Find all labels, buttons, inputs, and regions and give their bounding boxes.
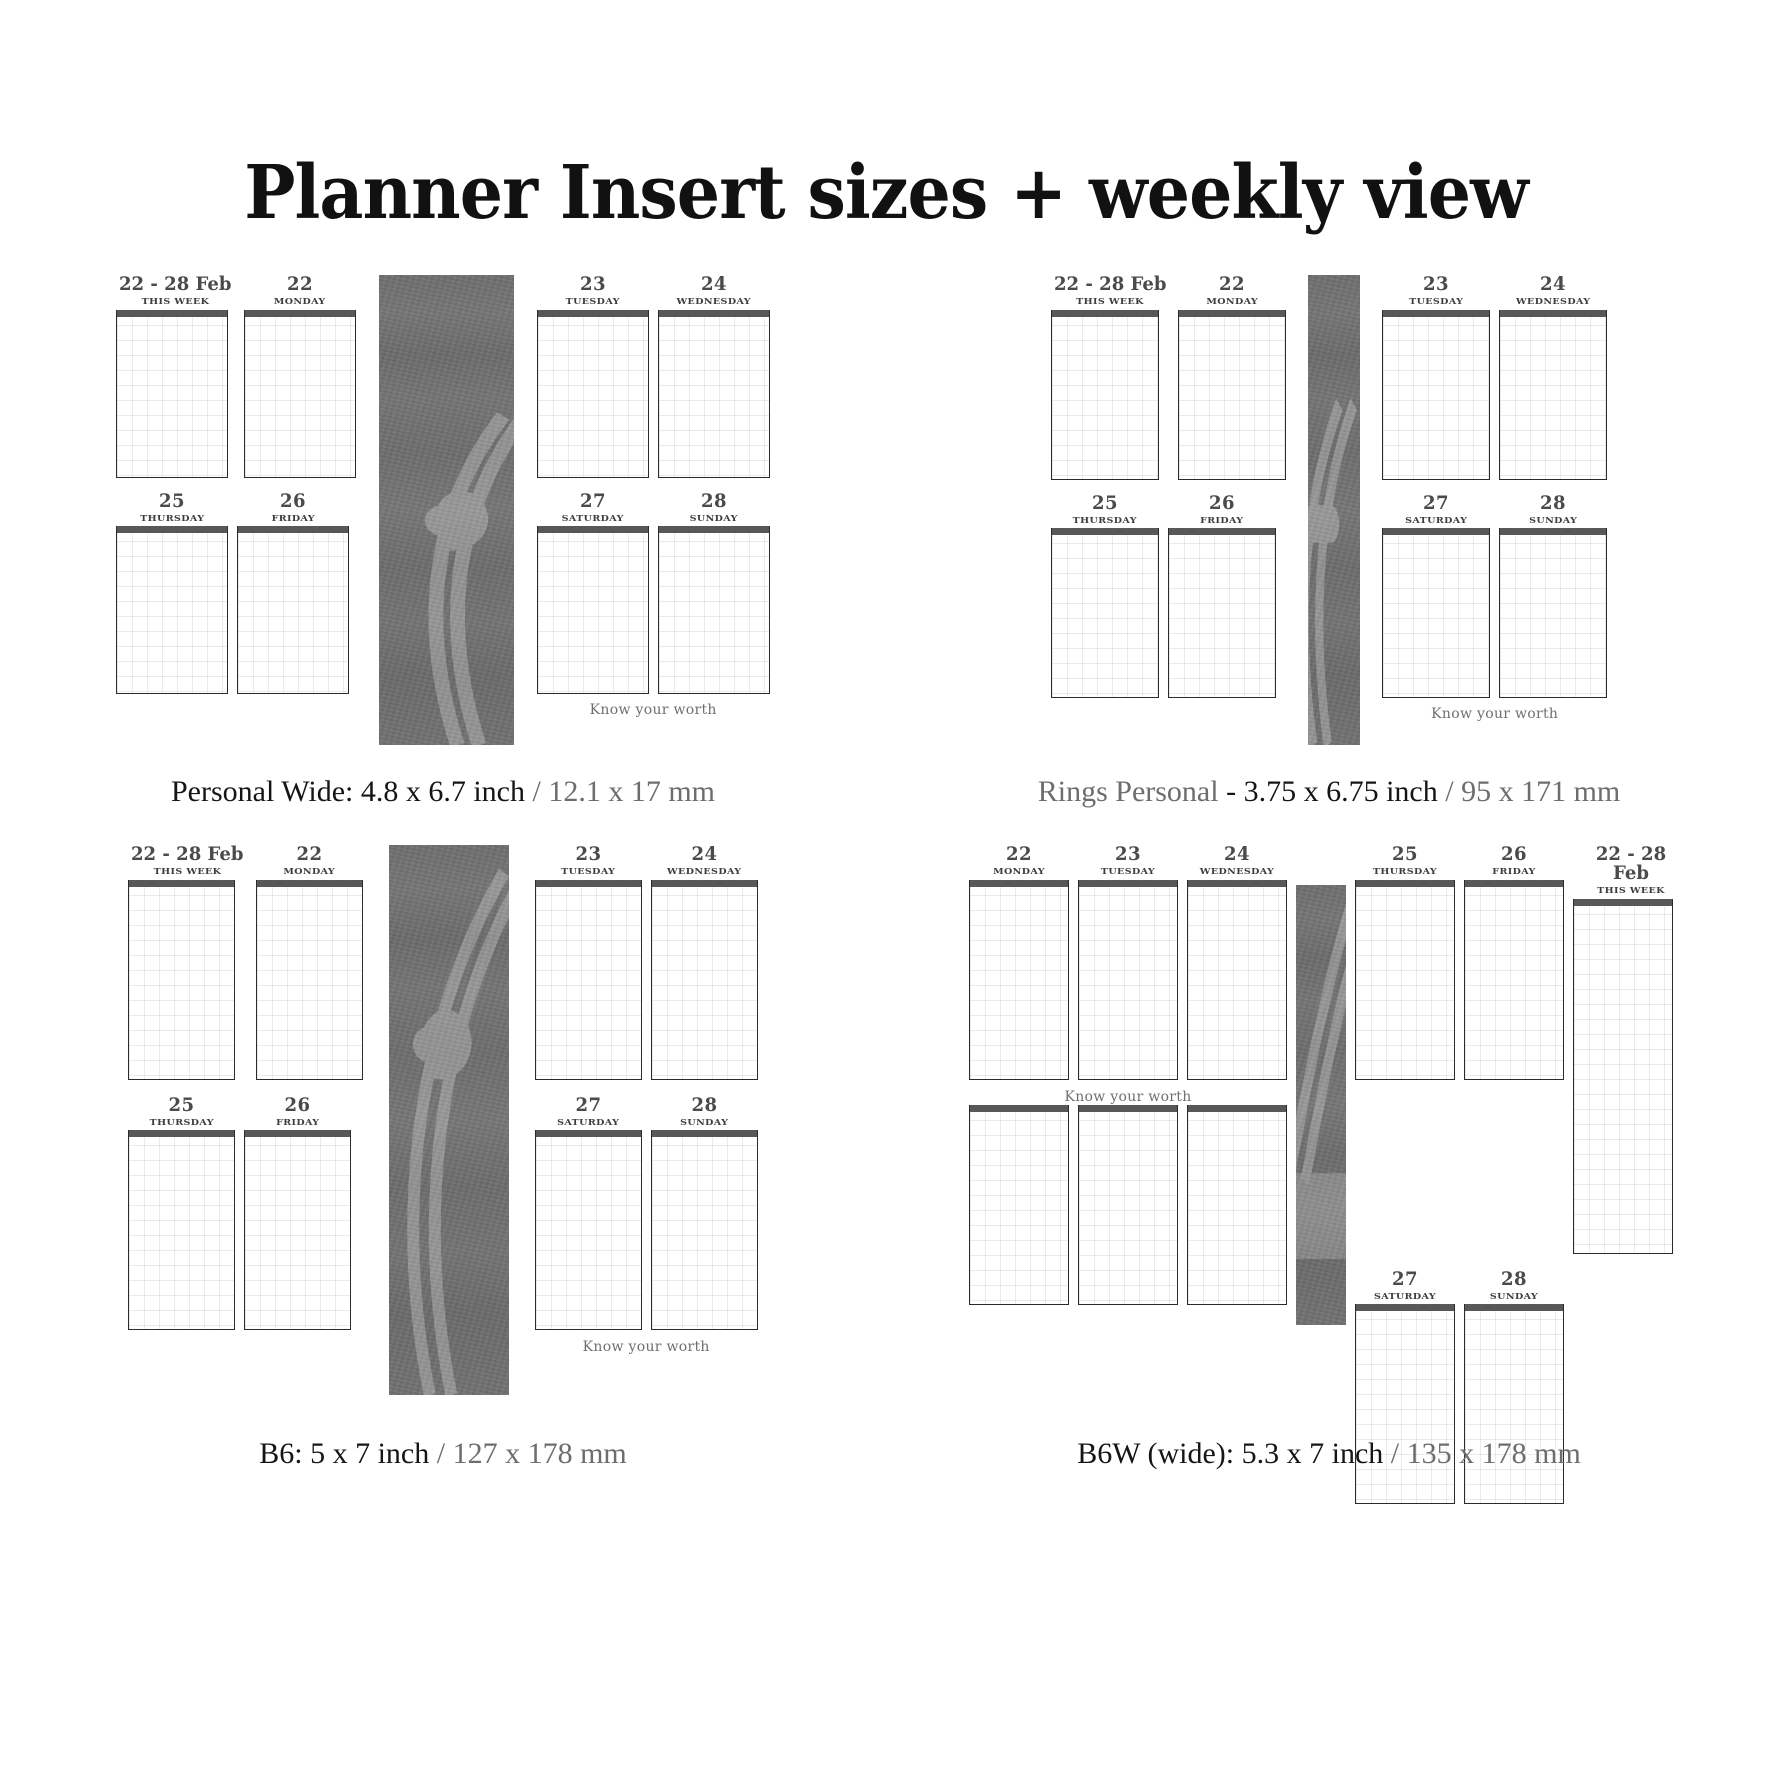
note-sheet[interactable] bbox=[535, 1130, 642, 1330]
date-number: 27 bbox=[537, 1096, 639, 1115]
day-label: THURSDAY bbox=[1051, 516, 1159, 525]
day-head: 26 FRIDAY bbox=[1464, 845, 1564, 877]
week-row-top: 23 TUESDAY 24 WEDNESDAY bbox=[535, 845, 758, 1080]
daybox-saturday[interactable]: 27 SATURDAY bbox=[535, 1096, 642, 1331]
date-number: 26 bbox=[247, 1096, 349, 1115]
planner-spine bbox=[1308, 275, 1360, 745]
note-sheet[interactable] bbox=[244, 1130, 351, 1330]
week-row-top: 22 - 28 Feb THIS WEEK 22 MONDAY bbox=[128, 845, 362, 1080]
day-label: SATURDAY bbox=[537, 514, 649, 523]
spread-right-page: 23 TUESDAY 24 WEDNESDAY bbox=[537, 275, 770, 718]
caption-size-inch: 5 x 7 inch bbox=[303, 1437, 430, 1470]
day-label: MONDAY bbox=[969, 867, 1069, 876]
spine-decoration-icon bbox=[389, 845, 509, 1395]
day-head: 22 - 28 Feb THIS WEEK bbox=[128, 845, 246, 877]
spread-b6w: 22 MONDAY 23 TUESDAY 2 bbox=[969, 845, 1689, 1504]
week-row-bottom: 25 THURSDAY 26 FRIDAY bbox=[128, 1096, 362, 1331]
daybox-thursday[interactable]: 25 THURSDAY bbox=[1355, 845, 1455, 1254]
date-number: 23 bbox=[537, 845, 639, 864]
day-label: THIS WEEK bbox=[116, 297, 234, 306]
week-row-bottom: 27 SATURDAY 28 SUNDAY bbox=[1382, 494, 1607, 699]
daybox-this-week[interactable]: 22 - 28 Feb THIS WEEK bbox=[1573, 845, 1689, 1254]
caption-size-mm: / 135 x 178 mm bbox=[1383, 1437, 1581, 1470]
day-label: SATURDAY bbox=[535, 1118, 642, 1127]
planner-panel-rings-personal: 22 - 28 Feb THIS WEEK 22 MONDAY bbox=[886, 275, 1772, 845]
caption-size-name: Rings Personal bbox=[1038, 775, 1219, 808]
caption-size-inch: 4.8 x 6.7 inch bbox=[353, 775, 525, 808]
day-label: MONDAY bbox=[1178, 297, 1286, 306]
week-row-bottom: 27 SATURDAY 28 SUNDAY bbox=[535, 1096, 758, 1331]
day-label: FRIDAY bbox=[244, 1118, 351, 1127]
daybox-tuesday[interactable]: 23 TUESDAY bbox=[1078, 845, 1178, 1080]
note-sheet[interactable] bbox=[969, 1105, 1069, 1305]
date-number: 24 bbox=[661, 275, 767, 294]
planner-spine bbox=[389, 845, 509, 1395]
date-number: 27 bbox=[1358, 1270, 1453, 1289]
day-head: 22 - 28 Feb THIS WEEK bbox=[1573, 845, 1689, 896]
caption-size-mm: / 127 x 178 mm bbox=[429, 1437, 627, 1470]
day-label: SUNDAY bbox=[1499, 516, 1607, 525]
date-number: 28 bbox=[1502, 494, 1605, 513]
spread-right-page: 23 TUESDAY 24 WEDNESDAY bbox=[535, 845, 758, 1355]
date-number: 22 - 28 Feb bbox=[119, 275, 232, 294]
note-sheet[interactable] bbox=[1051, 310, 1159, 480]
note-sheet[interactable] bbox=[1178, 310, 1286, 480]
note-sheet[interactable] bbox=[244, 310, 356, 478]
note-sheet[interactable] bbox=[1078, 880, 1178, 1080]
day-label: TUESDAY bbox=[1078, 867, 1178, 876]
day-head: 27 SATURDAY bbox=[1382, 494, 1490, 526]
note-sheet[interactable] bbox=[651, 880, 758, 1080]
day-label: THURSDAY bbox=[116, 514, 228, 523]
daybox-this-week[interactable]: 22 - 28 Feb THIS WEEK bbox=[1051, 275, 1169, 480]
day-head: 24 WEDNESDAY bbox=[651, 845, 758, 877]
note-sheet[interactable] bbox=[1355, 880, 1455, 1080]
date-number: 25 bbox=[119, 492, 225, 511]
day-head: 22 - 28 Feb THIS WEEK bbox=[1051, 275, 1169, 307]
daybox-saturday[interactable]: 27 SATURDAY bbox=[1382, 494, 1490, 699]
day-head: 27 SATURDAY bbox=[537, 492, 649, 524]
day-label: WEDNESDAY bbox=[651, 867, 758, 876]
caption-b6: B6: 5 x 7 inch / 127 x 178 mm bbox=[0, 1437, 886, 1471]
note-sheet[interactable] bbox=[1187, 1105, 1287, 1305]
day-label: THURSDAY bbox=[1355, 867, 1455, 876]
day-label: SUNDAY bbox=[658, 514, 770, 523]
spread-left-page: 22 MONDAY 23 TUESDAY 2 bbox=[969, 845, 1287, 1305]
note-sheet[interactable] bbox=[537, 310, 649, 478]
planner-spine bbox=[379, 275, 514, 745]
week-row-top: 23 TUESDAY 24 WEDNESDAY bbox=[1382, 275, 1607, 480]
tagline: Know your worth bbox=[969, 1089, 1287, 1105]
caption-size-mm: / 95 x 171 mm bbox=[1438, 775, 1621, 808]
day-label: FRIDAY bbox=[1168, 516, 1276, 525]
daybox-sunday[interactable]: 28 SUNDAY bbox=[658, 492, 770, 695]
daybox-friday[interactable]: 26 FRIDAY bbox=[1464, 845, 1564, 1254]
day-head: 27 SATURDAY bbox=[1355, 1270, 1455, 1302]
note-sheet[interactable] bbox=[1382, 528, 1490, 698]
day-head: 25 THURSDAY bbox=[1355, 845, 1455, 877]
daybox-sunday[interactable]: 28 SUNDAY bbox=[1499, 494, 1607, 699]
day-head: 24 WEDNESDAY bbox=[1499, 275, 1607, 307]
date-number: 23 bbox=[1081, 845, 1176, 864]
note-sheet[interactable] bbox=[1168, 528, 1276, 698]
daybox-tuesday[interactable]: 23 TUESDAY bbox=[535, 845, 642, 1080]
daybox-wednesday[interactable]: 24 WEDNESDAY bbox=[1499, 275, 1607, 480]
week-row-top: 23 TUESDAY 24 WEDNESDAY bbox=[537, 275, 770, 478]
day-label: THIS WEEK bbox=[128, 867, 246, 876]
date-number: 26 bbox=[1170, 494, 1273, 513]
day-head: 23 TUESDAY bbox=[537, 275, 649, 307]
note-sheet[interactable] bbox=[1382, 310, 1490, 480]
caption-size-name: B6: bbox=[259, 1437, 302, 1470]
day-label: FRIDAY bbox=[1464, 867, 1564, 876]
day-label: TUESDAY bbox=[535, 867, 642, 876]
tagline: Know your worth bbox=[1382, 706, 1607, 722]
day-label: THIS WEEK bbox=[1573, 886, 1689, 895]
note-sheet[interactable] bbox=[537, 526, 649, 694]
spine-decoration-icon bbox=[1308, 275, 1360, 745]
note-sheet[interactable] bbox=[969, 880, 1069, 1080]
day-head: 28 SUNDAY bbox=[658, 492, 770, 524]
day-label: TUESDAY bbox=[1382, 297, 1490, 306]
daybox-blank-2[interactable] bbox=[1078, 1105, 1178, 1305]
spine-decoration-icon bbox=[379, 275, 514, 745]
date-number: 24 bbox=[1502, 275, 1605, 294]
day-head: 25 THURSDAY bbox=[128, 1096, 235, 1128]
day-head: 28 SUNDAY bbox=[1464, 1270, 1564, 1302]
planner-spine bbox=[1296, 885, 1346, 1325]
spread-right-page: 25 THURSDAY 26 FRIDAY bbox=[1355, 845, 1689, 1504]
caption-size-name: B6W (wide): bbox=[1077, 1437, 1234, 1470]
note-sheet[interactable] bbox=[1499, 310, 1607, 480]
daybox-wednesday[interactable]: 24 WEDNESDAY bbox=[1187, 845, 1287, 1080]
note-sheet[interactable] bbox=[651, 1130, 758, 1330]
day-label: WEDNESDAY bbox=[658, 297, 770, 306]
note-sheet[interactable] bbox=[1187, 880, 1287, 1080]
tagline: Know your worth bbox=[535, 1339, 758, 1355]
day-head: 26 FRIDAY bbox=[237, 492, 349, 524]
daybox-saturday[interactable]: 27 SATURDAY bbox=[537, 492, 649, 695]
date-number: 22 bbox=[1181, 275, 1284, 294]
day-head: 22 MONDAY bbox=[244, 275, 356, 307]
day-head: 24 WEDNESDAY bbox=[1187, 845, 1287, 877]
note-sheet[interactable] bbox=[116, 526, 228, 694]
week-row-bottom bbox=[969, 1105, 1287, 1305]
daybox-thursday[interactable]: 25 THURSDAY bbox=[1051, 494, 1159, 699]
day-head: 25 THURSDAY bbox=[116, 492, 228, 524]
planner-panel-b6w: 22 MONDAY 23 TUESDAY 2 bbox=[886, 845, 1772, 1545]
daybox-monday[interactable]: 22 MONDAY bbox=[244, 275, 356, 478]
day-head: 26 FRIDAY bbox=[244, 1096, 351, 1128]
day-head: 28 SUNDAY bbox=[1499, 494, 1607, 526]
spine-decoration-icon bbox=[1296, 885, 1346, 1325]
spread-left-page: 22 - 28 Feb THIS WEEK 22 MONDAY bbox=[116, 275, 355, 694]
daybox-wednesday[interactable]: 24 WEDNESDAY bbox=[658, 275, 770, 478]
date-number: 22 - 28 Feb bbox=[1576, 845, 1686, 883]
day-head: 22 MONDAY bbox=[256, 845, 363, 877]
caption-rings-personal: Rings Personal - 3.75 x 6.75 inch / 95 x… bbox=[886, 775, 1772, 809]
daybox-friday[interactable]: 26 FRIDAY bbox=[1168, 494, 1276, 699]
tagline: Know your worth bbox=[537, 702, 770, 718]
daybox-wednesday[interactable]: 24 WEDNESDAY bbox=[651, 845, 758, 1080]
week-row-top: 22 MONDAY 23 TUESDAY 2 bbox=[969, 845, 1287, 1080]
daybox-this-week[interactable]: 22 - 28 Feb THIS WEEK bbox=[128, 845, 246, 1080]
date-number: 28 bbox=[1467, 1270, 1562, 1289]
day-label: THURSDAY bbox=[128, 1118, 235, 1127]
day-head: 24 WEDNESDAY bbox=[658, 275, 770, 307]
daybox-blank-3[interactable] bbox=[1187, 1105, 1287, 1305]
day-head: 28 SUNDAY bbox=[651, 1096, 758, 1128]
day-label: SATURDAY bbox=[1382, 516, 1490, 525]
daybox-monday[interactable]: 22 MONDAY bbox=[256, 845, 363, 1080]
day-label: FRIDAY bbox=[237, 514, 349, 523]
day-label: WEDNESDAY bbox=[1499, 297, 1607, 306]
date-number: 27 bbox=[540, 492, 646, 511]
note-sheet[interactable] bbox=[116, 310, 228, 478]
note-sheet[interactable] bbox=[128, 880, 235, 1080]
daybox-friday[interactable]: 26 FRIDAY bbox=[237, 492, 349, 695]
note-sheet[interactable] bbox=[1051, 528, 1159, 698]
date-number: 26 bbox=[1467, 845, 1562, 864]
note-sheet[interactable] bbox=[658, 526, 770, 694]
note-sheet[interactable] bbox=[1573, 899, 1673, 1254]
planner-panel-b6: 22 - 28 Feb THIS WEEK 22 MONDAY bbox=[0, 845, 886, 1545]
week-row-bottom: 27 SATURDAY 28 SUNDAY bbox=[537, 492, 770, 695]
caption-size-inch: 5.3 x 7 inch bbox=[1234, 1437, 1383, 1470]
daybox-tuesday[interactable]: 23 TUESDAY bbox=[537, 275, 649, 478]
note-sheet[interactable] bbox=[1499, 528, 1607, 698]
day-head: 22 MONDAY bbox=[969, 845, 1069, 877]
date-number: 28 bbox=[653, 1096, 755, 1115]
date-number: 22 bbox=[258, 845, 360, 864]
date-number: 25 bbox=[1053, 494, 1156, 513]
daybox-thursday[interactable]: 25 THURSDAY bbox=[128, 1096, 235, 1331]
note-sheet[interactable] bbox=[237, 526, 349, 694]
day-label: TUESDAY bbox=[537, 297, 649, 306]
caption-size-inch: - 3.75 x 6.75 inch bbox=[1219, 775, 1438, 808]
day-head: 23 TUESDAY bbox=[1382, 275, 1490, 307]
daybox-sunday[interactable]: 28 SUNDAY bbox=[651, 1096, 758, 1331]
day-head: 25 THURSDAY bbox=[1051, 494, 1159, 526]
daybox-friday[interactable]: 26 FRIDAY bbox=[244, 1096, 351, 1331]
note-sheet[interactable] bbox=[658, 310, 770, 478]
spread-personal-wide: 22 - 28 Feb THIS WEEK 22 MONDAY bbox=[93, 275, 793, 745]
planner-panel-personal-wide: 22 - 28 Feb THIS WEEK 22 MONDAY bbox=[0, 275, 886, 845]
day-head: 23 TUESDAY bbox=[535, 845, 642, 877]
week-row-bottom: 25 THURSDAY 26 FRIDAY bbox=[1051, 494, 1286, 699]
day-head: 27 SATURDAY bbox=[535, 1096, 642, 1128]
daybox-monday[interactable]: 22 MONDAY bbox=[969, 845, 1069, 1080]
day-label: WEDNESDAY bbox=[1187, 867, 1287, 876]
day-label: THIS WEEK bbox=[1051, 297, 1169, 306]
day-label: SATURDAY bbox=[1355, 1292, 1455, 1301]
week-row-top: 22 - 28 Feb THIS WEEK 22 MONDAY bbox=[1051, 275, 1286, 480]
date-number: 24 bbox=[653, 845, 755, 864]
page-title: Planner Insert sizes + weekly view bbox=[71, 150, 1701, 236]
caption-personal-wide: Personal Wide: 4.8 x 6.7 inch / 12.1 x 1… bbox=[0, 775, 886, 809]
week-row-top: 22 - 28 Feb THIS WEEK 22 MONDAY bbox=[116, 275, 355, 478]
date-number: 28 bbox=[661, 492, 767, 511]
date-number: 25 bbox=[1358, 845, 1453, 864]
spread-b6: 22 - 28 Feb THIS WEEK 22 MONDAY bbox=[93, 845, 793, 1395]
week-row-top: 25 THURSDAY 26 FRIDAY bbox=[1355, 845, 1689, 1254]
spread-rings-personal: 22 - 28 Feb THIS WEEK 22 MONDAY bbox=[979, 275, 1679, 745]
note-sheet[interactable] bbox=[1355, 1304, 1455, 1504]
caption-size-name: Personal Wide: bbox=[171, 775, 353, 808]
note-sheet[interactable] bbox=[128, 1130, 235, 1330]
week-row-bottom: 25 THURSDAY 26 FRIDAY bbox=[116, 492, 355, 695]
daybox-tuesday[interactable]: 23 TUESDAY bbox=[1382, 275, 1490, 480]
date-number: 22 bbox=[972, 845, 1067, 864]
daybox-blank-1[interactable] bbox=[969, 1105, 1069, 1305]
caption-b6w: B6W (wide): 5.3 x 7 inch / 135 x 178 mm bbox=[886, 1437, 1772, 1471]
note-sheet[interactable] bbox=[256, 880, 363, 1080]
daybox-thursday[interactable]: 25 THURSDAY bbox=[116, 492, 228, 695]
note-sheet[interactable] bbox=[1464, 1304, 1564, 1504]
date-number: 24 bbox=[1190, 845, 1285, 864]
daybox-monday[interactable]: 22 MONDAY bbox=[1178, 275, 1286, 480]
date-number: 26 bbox=[240, 492, 346, 511]
spread-right-page: 23 TUESDAY 24 WEDNESDAY bbox=[1382, 275, 1607, 722]
spread-left-page: 22 - 28 Feb THIS WEEK 22 MONDAY bbox=[1051, 275, 1286, 698]
note-sheet[interactable] bbox=[535, 880, 642, 1080]
note-sheet[interactable] bbox=[1464, 880, 1564, 1080]
daybox-this-week[interactable]: 22 - 28 Feb THIS WEEK bbox=[116, 275, 234, 478]
day-head: 22 - 28 Feb THIS WEEK bbox=[116, 275, 234, 307]
day-label: SUNDAY bbox=[651, 1118, 758, 1127]
day-head: 23 TUESDAY bbox=[1078, 845, 1178, 877]
date-number: 23 bbox=[1385, 275, 1488, 294]
date-number: 25 bbox=[131, 1096, 233, 1115]
day-label: MONDAY bbox=[244, 297, 356, 306]
date-number: 22 - 28 Feb bbox=[131, 845, 244, 864]
planner-size-grid: 22 - 28 Feb THIS WEEK 22 MONDAY bbox=[0, 275, 1772, 1545]
day-label: SUNDAY bbox=[1464, 1292, 1564, 1301]
date-number: 23 bbox=[540, 275, 646, 294]
date-number: 27 bbox=[1385, 494, 1488, 513]
note-sheet[interactable] bbox=[1078, 1105, 1178, 1305]
caption-size-mm: / 12.1 x 17 mm bbox=[525, 775, 715, 808]
day-head: 26 FRIDAY bbox=[1168, 494, 1276, 526]
date-number: 22 - 28 Feb bbox=[1054, 275, 1167, 294]
date-number: 22 bbox=[247, 275, 353, 294]
spread-left-page: 22 - 28 Feb THIS WEEK 22 MONDAY bbox=[128, 845, 362, 1330]
day-label: MONDAY bbox=[256, 867, 363, 876]
day-head: 22 MONDAY bbox=[1178, 275, 1286, 307]
